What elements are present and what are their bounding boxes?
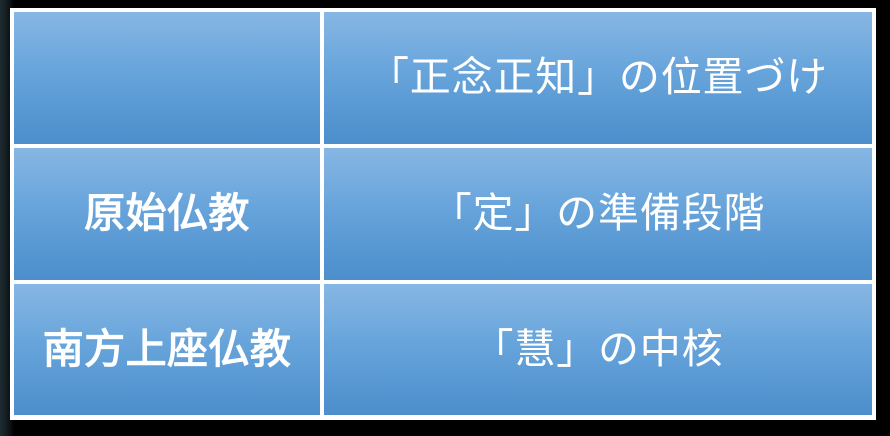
row-label-0: 原始仏教 (84, 189, 250, 238)
comparison-table: 「正念正知」の位置づけ 原始仏教 「定」の準備段階 南方上座仏教 「慧」の中核 (14, 12, 872, 415)
table-row: 「慧」の中核 (324, 284, 872, 415)
table-row: 南方上座仏教 (14, 284, 320, 415)
table-row: 原始仏教 (14, 148, 320, 280)
table-corner-cell (14, 12, 320, 144)
slide-canvas: 「正念正知」の位置づけ 原始仏教 「定」の準備段階 南方上座仏教 「慧」の中核 (0, 0, 890, 436)
table-row: 「定」の準備段階 (324, 148, 872, 280)
row-label-1: 南方上座仏教 (43, 325, 291, 374)
row-value-0: 「定」の準備段階 (431, 189, 766, 238)
table-header-label-position: 「正念正知」の位置づけ (368, 53, 828, 102)
table-header-cell-position: 「正念正知」の位置づけ (324, 12, 872, 144)
row-value-1: 「慧」の中核 (473, 325, 724, 374)
